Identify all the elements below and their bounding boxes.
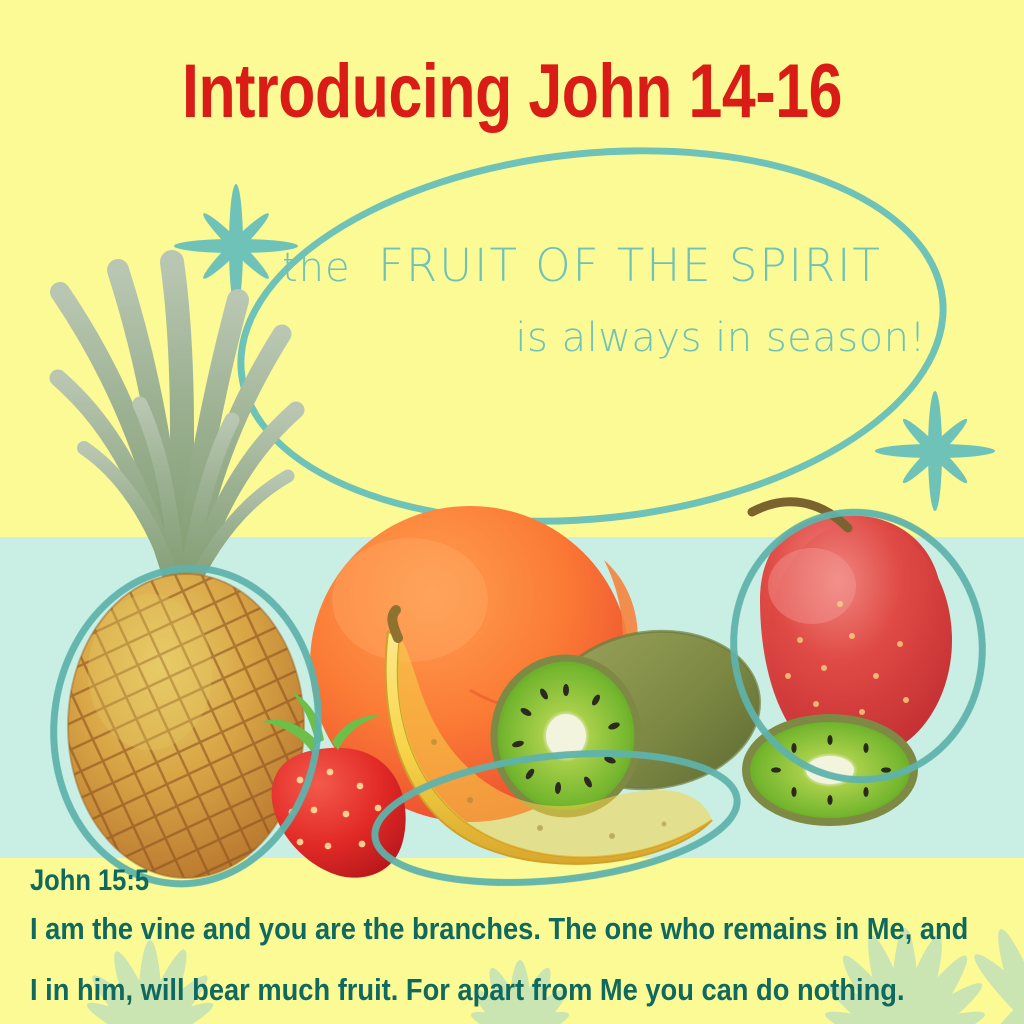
scripture-block: John 15:5 I am the vine and you are the …: [30, 864, 1010, 1008]
scripture-line-2: I in him, will bear much fruit. For apar…: [30, 972, 892, 1008]
fruit-kiwi-slice: [746, 718, 914, 822]
poster-canvas: Introducing John 14-16 the FRUIT OF THE …: [0, 0, 1024, 1024]
fruit-pineapple: [58, 262, 304, 878]
scripture-reference: John 15:5: [30, 864, 863, 898]
scripture-line-1: I am the vine and you are the branches. …: [30, 911, 892, 947]
